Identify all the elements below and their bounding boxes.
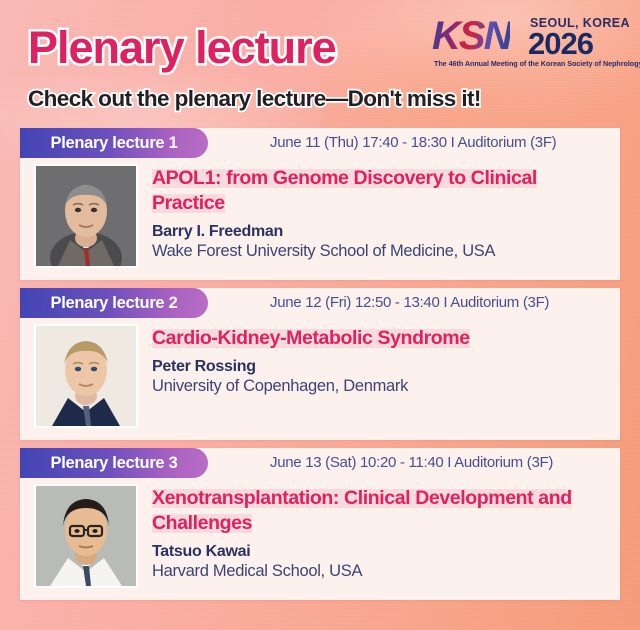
lecture-card-body: APOL1: from Genome Discovery to Clinical… bbox=[20, 158, 620, 280]
lecture-badge: Plenary lecture 3 bbox=[20, 448, 208, 478]
lecture-card-body: Xenotransplantation: Clinical Developmen… bbox=[20, 478, 620, 600]
speaker-photo bbox=[34, 324, 138, 428]
logo-tagline-text: The 46th Annual Meeting of the Korean So… bbox=[434, 59, 640, 68]
lecture-schedule: June 11 (Thu) 17:40 - 18:30 I Auditorium… bbox=[270, 128, 556, 158]
lecture-title: Xenotransplantation: Clinical Developmen… bbox=[152, 487, 572, 534]
speaker-affiliation: University of Copenhagen, Denmark bbox=[152, 377, 606, 396]
lecture-card-header: Plenary lecture 2 June 12 (Fri) 12:50 - … bbox=[20, 288, 620, 318]
portrait-image bbox=[36, 326, 136, 426]
speaker-name: Tatsuo Kawai bbox=[152, 543, 606, 561]
page-header: Plenary lecture Check out the plenary le… bbox=[0, 0, 640, 128]
ksn-logo: KSN SEOUL, KOREA 2026 The 46th Annual Me… bbox=[430, 14, 630, 72]
portrait-image bbox=[36, 486, 136, 586]
lecture-card[interactable]: Plenary lecture 2 June 12 (Fri) 12:50 - … bbox=[20, 288, 620, 440]
lecture-title: APOL1: from Genome Discovery to Clinical… bbox=[152, 167, 537, 214]
lecture-card[interactable]: Plenary lecture 3 June 13 (Sat) 10:20 - … bbox=[20, 448, 620, 600]
logo-mark-text: KSN bbox=[432, 16, 510, 56]
lecture-schedule: June 13 (Sat) 10:20 - 11:40 I Auditorium… bbox=[270, 448, 553, 478]
lecture-card[interactable]: Plenary lecture 1 June 11 (Thu) 17:40 - … bbox=[20, 128, 620, 280]
logo-year-text: 2026 bbox=[528, 28, 593, 59]
lecture-info: Xenotransplantation: Clinical Developmen… bbox=[152, 484, 606, 588]
page-subtitle: Check out the plenary lecture—Don't miss… bbox=[28, 86, 481, 112]
lecture-info: Cardio-Kidney-Metabolic Syndrome Peter R… bbox=[152, 324, 606, 428]
lecture-card-header: Plenary lecture 3 June 13 (Sat) 10:20 - … bbox=[20, 448, 620, 478]
lecture-info: APOL1: from Genome Discovery to Clinical… bbox=[152, 164, 606, 268]
portrait-image bbox=[36, 166, 136, 266]
speaker-name: Barry I. Freedman bbox=[152, 223, 606, 241]
lecture-title: Cardio-Kidney-Metabolic Syndrome bbox=[152, 327, 470, 349]
speaker-photo bbox=[34, 484, 138, 588]
page-title: Plenary lecture bbox=[28, 22, 336, 74]
speaker-photo bbox=[34, 164, 138, 268]
lecture-card-body: Cardio-Kidney-Metabolic Syndrome Peter R… bbox=[20, 318, 620, 440]
lecture-schedule: June 12 (Fri) 12:50 - 13:40 I Auditorium… bbox=[270, 288, 549, 318]
speaker-affiliation: Wake Forest University School of Medicin… bbox=[152, 242, 606, 261]
speaker-name: Peter Rossing bbox=[152, 358, 606, 376]
lecture-list: Plenary lecture 1 June 11 (Thu) 17:40 - … bbox=[0, 128, 640, 600]
speaker-affiliation: Harvard Medical School, USA bbox=[152, 562, 606, 581]
lecture-badge: Plenary lecture 2 bbox=[20, 288, 208, 318]
lecture-card-header: Plenary lecture 1 June 11 (Thu) 17:40 - … bbox=[20, 128, 620, 158]
lecture-badge: Plenary lecture 1 bbox=[20, 128, 208, 158]
